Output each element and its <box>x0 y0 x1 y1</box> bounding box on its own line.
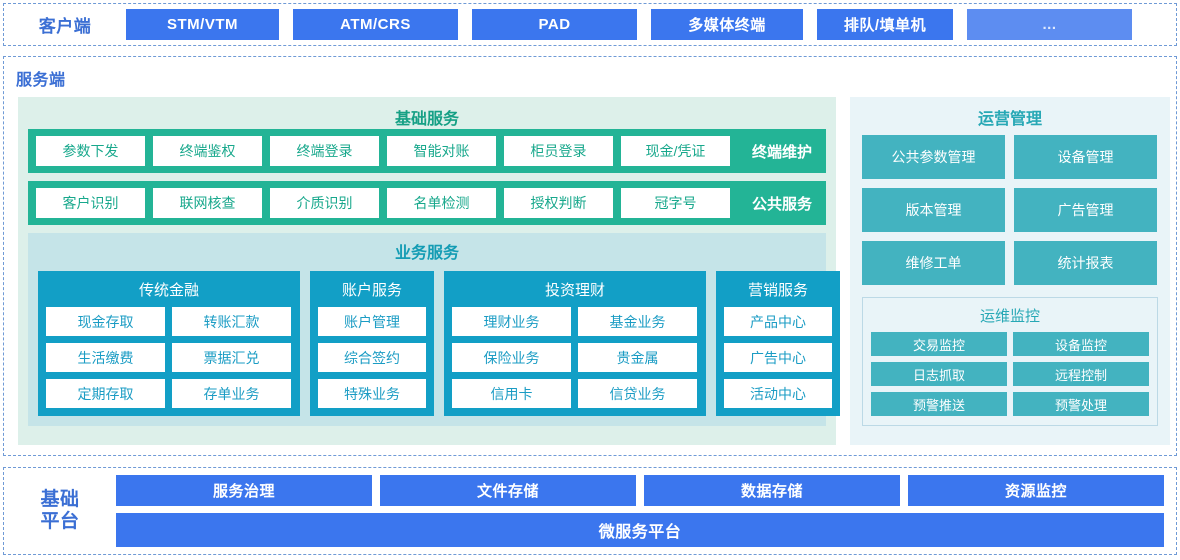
basic-service-row-0: 参数下发终端鉴权终端登录智能对账柜员登录现金/凭证终端维护 <box>28 129 826 173</box>
business-group-title-2: 投资理财 <box>452 277 698 307</box>
basic-service-cell-1-5[interactable]: 冠字号 <box>621 188 730 218</box>
business-cell-3-1[interactable]: 广告中心 <box>724 343 832 372</box>
platform-title-line-2: 平台 <box>4 511 116 533</box>
server-layer-band: 服务端 基础服务 参数下发终端鉴权终端登录智能对账柜员登录现金/凭证终端维护客户… <box>3 56 1177 456</box>
business-group-title-1: 账户服务 <box>318 277 426 307</box>
operations-cell-0[interactable]: 公共参数管理 <box>862 135 1005 179</box>
business-group-cells-3: 产品中心广告中心活动中心 <box>724 307 832 408</box>
business-cell-2-3[interactable]: 贵金属 <box>578 343 697 372</box>
basic-service-cell-1-0[interactable]: 客户识别 <box>36 188 145 218</box>
monitoring-cell-5[interactable]: 预警处理 <box>1013 392 1149 416</box>
platform-bottom-row: 微服务平台 <box>116 513 1164 547</box>
client-chip-1[interactable]: ATM/CRS <box>293 9 458 40</box>
basic-service-cell-0-2[interactable]: 终端登录 <box>270 136 379 166</box>
business-group-cells-1: 账户管理综合签约特殊业务 <box>318 307 426 408</box>
ops-monitoring-title: 运维监控 <box>871 301 1149 332</box>
business-cell-0-2[interactable]: 生活缴费 <box>46 343 165 372</box>
client-chip-list: STM/VTMATM/CRSPAD多媒体终端排队/填单机... <box>126 9 1176 40</box>
operations-cell-3[interactable]: 广告管理 <box>1014 188 1157 232</box>
server-layer-title: 服务端 <box>16 66 66 90</box>
business-cell-2-0[interactable]: 理财业务 <box>452 307 571 336</box>
platform-top-row: 服务治理文件存储数据存储资源监控 <box>116 475 1164 506</box>
basic-service-row-label-0: 终端维护 <box>738 141 826 162</box>
business-group-cells-2: 理财业务基金业务保险业务贵金属信用卡信贷业务 <box>452 307 698 408</box>
monitoring-cell-2[interactable]: 日志抓取 <box>871 362 1007 386</box>
operations-cell-2[interactable]: 版本管理 <box>862 188 1005 232</box>
basic-service-row-label-1: 公共服务 <box>738 193 826 214</box>
business-cell-1-2[interactable]: 特殊业务 <box>318 379 426 408</box>
operations-cell-grid: 公共参数管理设备管理版本管理广告管理维修工单统计报表 <box>850 129 1170 285</box>
business-services-panel: 业务服务 传统金融现金存取转账汇款生活缴费票据汇兑定期存取存单业务账户服务账户管… <box>28 233 826 426</box>
operations-cell-4[interactable]: 维修工单 <box>862 241 1005 285</box>
business-services-title: 业务服务 <box>28 235 826 271</box>
client-chip-5[interactable]: ... <box>967 9 1132 40</box>
basic-services-rows: 参数下发终端鉴权终端登录智能对账柜员登录现金/凭证终端维护客户识别联网核查介质识… <box>18 129 836 225</box>
basic-services-panel: 基础服务 参数下发终端鉴权终端登录智能对账柜员登录现金/凭证终端维护客户识别联网… <box>18 97 836 445</box>
basic-service-row-1: 客户识别联网核查介质识别名单检测授权判断冠字号公共服务 <box>28 181 826 225</box>
business-cell-0-0[interactable]: 现金存取 <box>46 307 165 336</box>
platform-chip-2[interactable]: 数据存储 <box>644 475 900 506</box>
client-chip-4[interactable]: 排队/填单机 <box>817 9 953 40</box>
architecture-diagram: 客户端 STM/VTMATM/CRSPAD多媒体终端排队/填单机... 服务端 … <box>0 0 1180 560</box>
business-cell-0-3[interactable]: 票据汇兑 <box>172 343 291 372</box>
platform-layer-band: 基础 平台 服务治理文件存储数据存储资源监控 微服务平台 <box>3 467 1177 555</box>
ops-monitoring-box: 运维监控 交易监控设备监控日志抓取远程控制预警推送预警处理 <box>862 297 1158 426</box>
client-layer-band: 客户端 STM/VTMATM/CRSPAD多媒体终端排队/填单机... <box>3 3 1177 46</box>
ops-monitoring-grid: 交易监控设备监控日志抓取远程控制预警推送预警处理 <box>871 332 1149 416</box>
business-cell-3-2[interactable]: 活动中心 <box>724 379 832 408</box>
business-group-2: 投资理财理财业务基金业务保险业务贵金属信用卡信贷业务 <box>444 271 706 416</box>
monitoring-cell-4[interactable]: 预警推送 <box>871 392 1007 416</box>
business-services-groups: 传统金融现金存取转账汇款生活缴费票据汇兑定期存取存单业务账户服务账户管理综合签约… <box>28 271 826 416</box>
platform-stack: 服务治理文件存储数据存储资源监控 微服务平台 <box>116 475 1176 547</box>
business-group-1: 账户服务账户管理综合签约特殊业务 <box>310 271 434 416</box>
basic-service-cell-0-3[interactable]: 智能对账 <box>387 136 496 166</box>
client-layer-title: 客户端 <box>4 12 126 37</box>
basic-services-title: 基础服务 <box>18 97 836 129</box>
platform-layer-title: 基础 平台 <box>4 489 116 533</box>
basic-service-cell-0-5[interactable]: 现金/凭证 <box>621 136 730 166</box>
business-cell-3-0[interactable]: 产品中心 <box>724 307 832 336</box>
business-cell-2-5[interactable]: 信贷业务 <box>578 379 697 408</box>
monitoring-cell-3[interactable]: 远程控制 <box>1013 362 1149 386</box>
platform-microservice-chip[interactable]: 微服务平台 <box>116 513 1164 547</box>
business-cell-2-4[interactable]: 信用卡 <box>452 379 571 408</box>
business-cell-1-1[interactable]: 综合签约 <box>318 343 426 372</box>
basic-service-cell-1-3[interactable]: 名单检测 <box>387 188 496 218</box>
platform-chip-3[interactable]: 资源监控 <box>908 475 1164 506</box>
business-group-3: 营销服务产品中心广告中心活动中心 <box>716 271 840 416</box>
platform-chip-1[interactable]: 文件存储 <box>380 475 636 506</box>
business-cell-1-0[interactable]: 账户管理 <box>318 307 426 336</box>
basic-service-cell-1-4[interactable]: 授权判断 <box>504 188 613 218</box>
business-group-title-3: 营销服务 <box>724 277 832 307</box>
client-chip-3[interactable]: 多媒体终端 <box>651 9 803 40</box>
business-cell-2-2[interactable]: 保险业务 <box>452 343 571 372</box>
basic-service-cell-0-0[interactable]: 参数下发 <box>36 136 145 166</box>
operations-management-panel: 运营管理 公共参数管理设备管理版本管理广告管理维修工单统计报表 运维监控 交易监… <box>850 97 1170 445</box>
operations-management-title: 运营管理 <box>850 97 1170 129</box>
platform-chip-0[interactable]: 服务治理 <box>116 475 372 506</box>
business-cell-0-5[interactable]: 存单业务 <box>172 379 291 408</box>
platform-title-line-1: 基础 <box>4 489 116 511</box>
basic-service-cell-1-1[interactable]: 联网核查 <box>153 188 262 218</box>
business-group-0: 传统金融现金存取转账汇款生活缴费票据汇兑定期存取存单业务 <box>38 271 300 416</box>
business-group-cells-0: 现金存取转账汇款生活缴费票据汇兑定期存取存单业务 <box>46 307 292 408</box>
basic-service-cell-1-2[interactable]: 介质识别 <box>270 188 379 218</box>
business-cell-0-1[interactable]: 转账汇款 <box>172 307 291 336</box>
monitoring-cell-1[interactable]: 设备监控 <box>1013 332 1149 356</box>
monitoring-cell-0[interactable]: 交易监控 <box>871 332 1007 356</box>
basic-service-cell-0-1[interactable]: 终端鉴权 <box>153 136 262 166</box>
business-cell-0-4[interactable]: 定期存取 <box>46 379 165 408</box>
business-group-title-0: 传统金融 <box>46 277 292 307</box>
basic-service-cell-0-4[interactable]: 柜员登录 <box>504 136 613 166</box>
client-chip-0[interactable]: STM/VTM <box>126 9 279 40</box>
client-chip-2[interactable]: PAD <box>472 9 637 40</box>
operations-cell-1[interactable]: 设备管理 <box>1014 135 1157 179</box>
operations-cell-5[interactable]: 统计报表 <box>1014 241 1157 285</box>
business-cell-2-1[interactable]: 基金业务 <box>578 307 697 336</box>
